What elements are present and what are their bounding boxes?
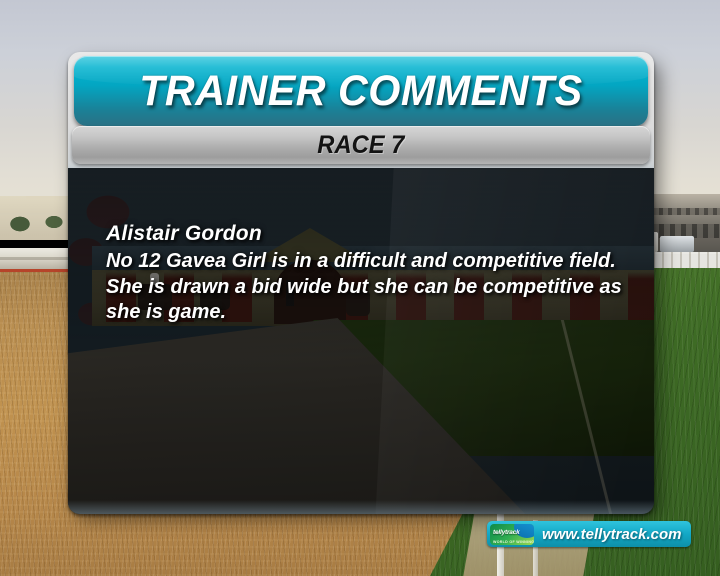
race-bar: RACE 7 — [72, 126, 650, 164]
page-title: TRAINER COMMENTS — [139, 67, 582, 116]
photo-gloss-highlight — [373, 168, 654, 514]
stable-yard-photo: Alistair Gordon No 12 Gavea Girl is in a… — [68, 168, 654, 514]
logo-wordmark: tellytrack — [493, 529, 520, 536]
trainer-name: Alistair Gordon — [106, 222, 634, 246]
tellytrack-watermark: tellytrack WORLD OF WINNING www.tellytra… — [487, 521, 691, 547]
header-area: TRAINER COMMENTS — [68, 52, 654, 128]
race-bar-area: RACE 7 — [68, 126, 654, 166]
trainer-comments-panel: Alistair Gordon No 12 Gavea Girl is in a… — [68, 52, 654, 514]
parked-vehicle — [660, 236, 694, 252]
watermark-url: www.tellytrack.com — [542, 526, 682, 543]
panel-body: Alistair Gordon No 12 Gavea Girl is in a… — [68, 52, 654, 514]
race-number-label: RACE 7 — [317, 131, 404, 160]
logo-tagline: WORLD OF WINNING — [493, 540, 534, 544]
header-bar: TRAINER COMMENTS — [74, 56, 648, 126]
tellytrack-logo-icon: tellytrack WORLD OF WINNING — [490, 524, 534, 545]
comment-text: No 12 Gavea Girl is in a difficult and c… — [106, 249, 626, 326]
comment-block: Alistair Gordon No 12 Gavea Girl is in a… — [106, 222, 634, 326]
